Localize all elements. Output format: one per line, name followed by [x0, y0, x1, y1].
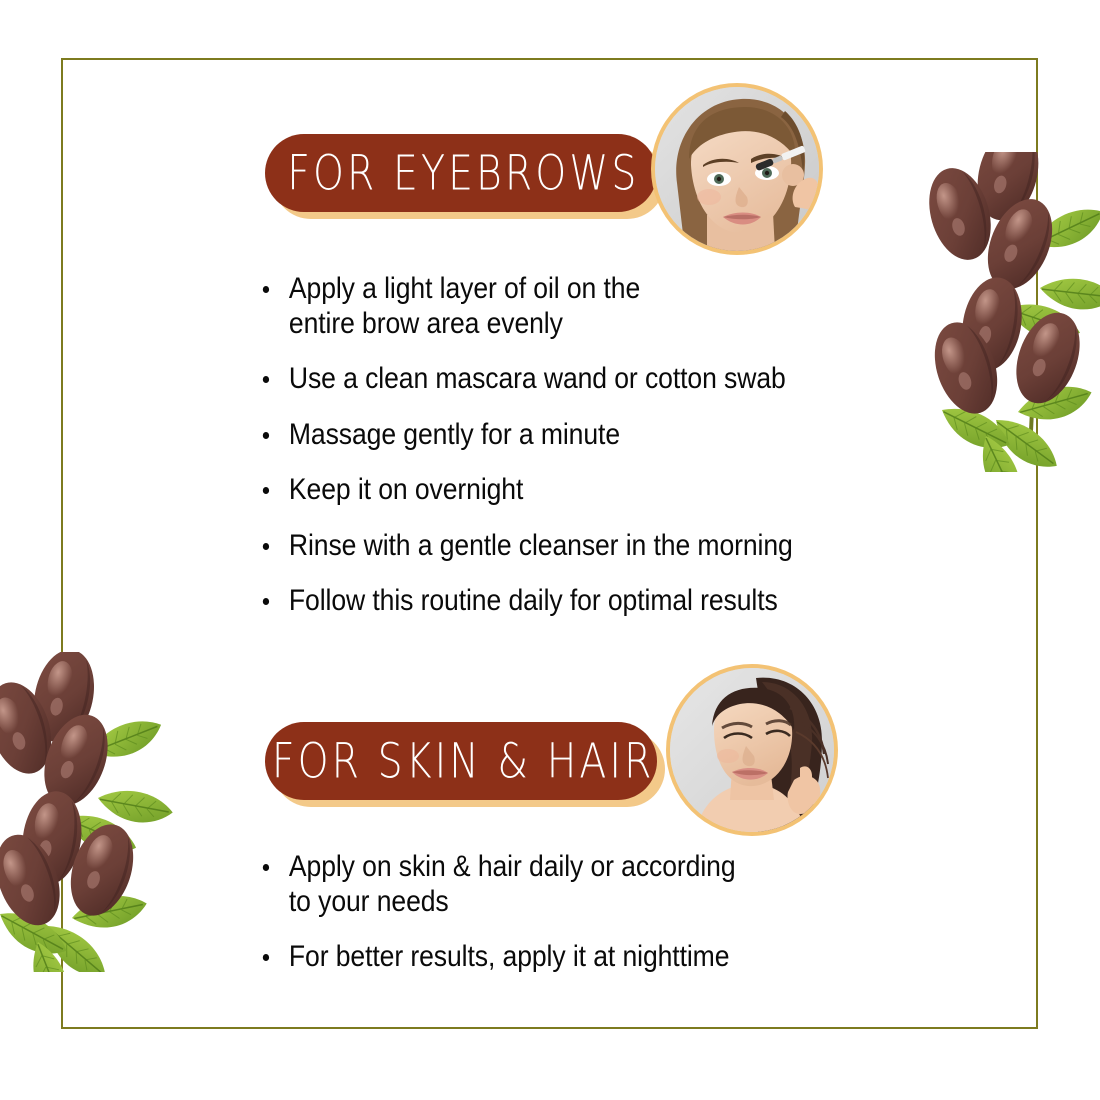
jojoba-cluster-top-right: [922, 152, 1100, 472]
skin-hair-photo-ring: [666, 664, 838, 836]
banner-pill: FOR SKIN & HAIR: [265, 722, 657, 800]
skin-hair-title: FOR SKIN & HAIR: [268, 733, 654, 790]
skin-hair-bullet-list: Apply on skin & hair daily or according …: [252, 850, 972, 996]
skin-hair-banner: FOR SKIN & HAIR: [265, 722, 657, 800]
jojoba-cluster-bottom-left: [0, 652, 178, 972]
list-item: For better results, apply it at nighttim…: [252, 940, 900, 975]
skin-hair-photo: [670, 668, 834, 832]
infographic-page: FOR EYEBROWS: [0, 0, 1100, 1100]
list-item: Apply on skin & hair daily or according …: [252, 850, 900, 919]
